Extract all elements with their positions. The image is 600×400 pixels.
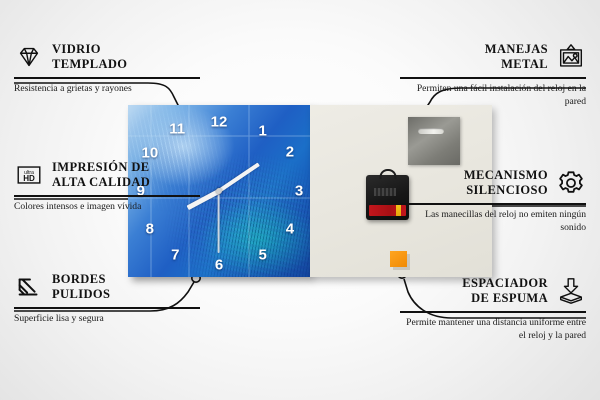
- mechanism-shaft: [374, 188, 396, 196]
- feature-header: ESPACIADOR DE ESPUMA: [400, 276, 586, 306]
- feature-title: IMPRESIÓN DE ALTA CALIDAD: [52, 160, 150, 190]
- feature-description: Permite mantener una distancia uniforme …: [400, 317, 586, 343]
- foam-spacer-arrow-icon: [556, 276, 586, 306]
- clock-center-cap: [216, 188, 222, 194]
- gear-icon: [556, 168, 586, 198]
- clock-numeral-2: 2: [286, 145, 294, 160]
- clock-numeral-4: 4: [286, 221, 294, 236]
- feature-title: VIDRIO TEMPLADO: [52, 42, 127, 72]
- picture-frame-hanger-icon: [556, 42, 586, 72]
- feature-description: Las manecillas del reloj no emiten ningú…: [400, 209, 586, 235]
- feature-manejas-metal[interactable]: MANEJAS METAL Permiten una fácil instala…: [400, 42, 586, 108]
- ultra-hd-icon: ultra HD: [14, 160, 44, 190]
- clock-numeral-5: 5: [259, 247, 267, 262]
- divider: [14, 77, 200, 79]
- clock-numeral-3: 3: [295, 184, 303, 199]
- clock-numeral-8: 8: [146, 221, 154, 236]
- feature-header: ultra HD IMPRESIÓN DE ALTA CALIDAD: [14, 160, 200, 190]
- clock-numeral-6: 6: [215, 257, 223, 272]
- feature-header: MANEJAS METAL: [400, 42, 586, 72]
- foam-spacer-pad: [390, 251, 407, 267]
- metal-hanger-plate: [408, 117, 460, 165]
- feature-title: MECANISMO SILENCIOSO: [464, 168, 548, 198]
- feature-description: Resistencia a grietas y rayones: [14, 83, 200, 96]
- feature-description: Colores intensos e imagen vívida: [14, 201, 200, 214]
- feature-title: MANEJAS METAL: [485, 42, 548, 72]
- divider: [400, 77, 586, 79]
- clock-numeral-12: 12: [211, 115, 228, 130]
- mechanism-hook: [379, 169, 396, 179]
- clock-second-hand: [218, 191, 220, 253]
- clock-numeral-1: 1: [259, 124, 267, 139]
- feature-impresion-alta-calidad[interactable]: ultra HD IMPRESIÓN DE ALTA CALIDAD Color…: [14, 160, 200, 214]
- feature-description: Superficie lisa y segura: [14, 313, 200, 326]
- feature-header: BORDES PULIDOS: [14, 272, 200, 302]
- feature-description: Permiten una fácil instalación del reloj…: [400, 83, 586, 109]
- feature-espaciador-espuma[interactable]: ESPACIADOR DE ESPUMA Permite mantener un…: [400, 276, 586, 342]
- divider: [14, 195, 200, 197]
- hanger-slot: [418, 128, 444, 134]
- clock-numeral-10: 10: [141, 146, 158, 161]
- clock-numeral-11: 11: [169, 122, 185, 137]
- infographic-stage: 12 1 2 3 4 5 6 7 8 9 10 11: [0, 0, 600, 400]
- polished-edges-icon: [14, 272, 44, 302]
- divider: [400, 203, 586, 205]
- divider: [14, 307, 200, 309]
- divider: [400, 311, 586, 313]
- feature-title: ESPACIADOR DE ESPUMA: [462, 276, 548, 306]
- feature-header: VIDRIO TEMPLADO: [14, 42, 200, 72]
- svg-text:HD: HD: [23, 174, 35, 183]
- feature-header: MECANISMO SILENCIOSO: [400, 168, 586, 198]
- feature-title: BORDES PULIDOS: [52, 272, 110, 302]
- diamond-icon: [14, 42, 44, 72]
- feature-mecanismo-silencioso[interactable]: MECANISMO SILENCIOSO Las manecillas del …: [400, 168, 586, 234]
- feature-bordes-pulidos[interactable]: BORDES PULIDOS Superficie lisa y segura: [14, 272, 200, 326]
- feature-vidrio-templado[interactable]: VIDRIO TEMPLADO Resistencia a grietas y …: [14, 42, 200, 96]
- clock-numeral-7: 7: [171, 247, 179, 262]
